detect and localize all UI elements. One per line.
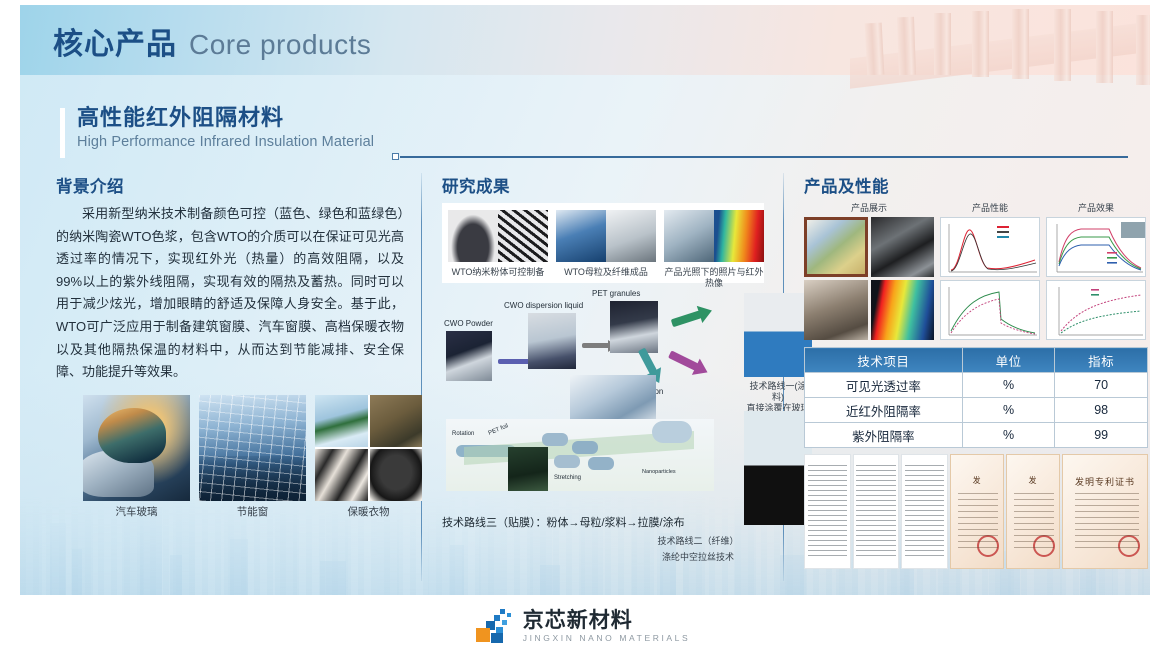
research-caption: 产品光照下的照片与红外热像 bbox=[664, 267, 764, 289]
research-photo-cell: 产品光照下的照片与红外热像 bbox=[664, 210, 764, 278]
patent-certificate-1: 发 bbox=[950, 454, 1004, 569]
product-subtitle-effect: 产品效果 bbox=[1046, 203, 1146, 214]
research-caption: WTO纳米粉体可控制备 bbox=[448, 267, 548, 278]
research-photo-cell: WTO纳米粉体可控制备 bbox=[448, 210, 548, 278]
energy-saving-window-photo bbox=[199, 395, 306, 501]
effect-chart-1-svg bbox=[1047, 218, 1146, 277]
product-effect-charts bbox=[1046, 217, 1146, 340]
wto-masterbatch-fiber-photo bbox=[556, 210, 656, 262]
certificate-row: 发 发 发明专利证书 bbox=[804, 454, 1148, 569]
spec-col-value: 指标 bbox=[1055, 348, 1148, 373]
table-row: 近红外阻隔率 % 98 bbox=[805, 398, 1148, 423]
product-subtitle-performance: 产品性能 bbox=[940, 203, 1040, 214]
research-title: 研究成果 bbox=[442, 173, 782, 197]
section-rule bbox=[392, 153, 1128, 161]
route-one-block: 技术路线一(涂料) 直接涂覆在玻璃表面 bbox=[744, 293, 812, 425]
route-two-caption-block: 技术路线二（纤维） 涤纶中空拉丝技术 bbox=[654, 531, 742, 563]
background-photo-row: 汽车玻璃 节能窗 保暖衣物 bbox=[83, 395, 422, 519]
photo-caption: 汽车玻璃 bbox=[83, 506, 190, 519]
test-report-cttc bbox=[804, 454, 851, 569]
section-title-cn: 高性能红外阻隔材料 bbox=[77, 104, 374, 132]
background-title: 背景介绍 bbox=[56, 173, 404, 197]
flow-label-pet-granules: PET granules bbox=[592, 289, 640, 298]
research-caption: WTO母粒及纤维成品 bbox=[556, 267, 656, 278]
spec-value: 70 bbox=[1055, 373, 1148, 398]
test-report-gtt bbox=[853, 454, 900, 569]
patent-title: 发 bbox=[951, 475, 1003, 486]
performance-chart-2-svg bbox=[941, 281, 1040, 340]
pet-granules-photo bbox=[610, 301, 658, 353]
product-subtitle-row: 产品展示 产品性能 产品效果 bbox=[804, 203, 1148, 214]
wto-nano-powder-photo bbox=[448, 210, 548, 262]
research-photo-cell: WTO母粒及纤维成品 bbox=[556, 210, 656, 278]
route-two-block bbox=[744, 411, 812, 525]
photo-caption: 保暖衣物 bbox=[315, 506, 422, 519]
test-report-third bbox=[901, 454, 948, 569]
product-thermal-device-photo bbox=[871, 280, 935, 340]
flow-label-nanoparticles: Nanoparticles bbox=[642, 469, 676, 475]
photo-caption: 节能窗 bbox=[199, 506, 306, 519]
header-title-cn: 核心产品 bbox=[53, 19, 177, 63]
patent-certificate-3: 发明专利证书 bbox=[1062, 454, 1148, 569]
section-title-block: 高性能红外阻隔材料 High Performance Infrared Insu… bbox=[60, 104, 374, 152]
background-paragraph: 采用新型纳米技术制备颜色可控（蓝色、绿色和蓝绿色）的纳米陶瓷WTO色浆，包含WT… bbox=[56, 203, 404, 384]
photo-cell: 保暖衣物 bbox=[315, 395, 422, 519]
product-title: 产品及性能 bbox=[804, 173, 1148, 197]
flow-arrow-purple bbox=[672, 350, 699, 363]
performance-chart-1 bbox=[940, 217, 1040, 277]
route-two-photo bbox=[744, 411, 812, 525]
content-columns: 背景介绍 采用新型纳米技术制备颜色可控（蓝色、绿色和蓝绿色）的纳米陶瓷WTO色浆… bbox=[56, 173, 1128, 589]
spec-item: 紫外阻隔率 bbox=[805, 423, 963, 448]
spec-unit: % bbox=[962, 398, 1055, 423]
column-product: 产品及性能 产品展示 产品性能 产品效果 bbox=[804, 173, 1148, 569]
product-sample-photo-3 bbox=[804, 280, 868, 340]
route-three-schematic: Rotation PET foil Stretching Nanoparticl… bbox=[446, 419, 714, 491]
cwo-powder-photo bbox=[446, 331, 492, 381]
route-one-photo bbox=[744, 293, 812, 377]
product-sample-photo-1 bbox=[804, 217, 868, 277]
spec-item: 近红外阻隔率 bbox=[805, 398, 963, 423]
route-one-caption-line1: 技术路线一(涂料) bbox=[744, 381, 812, 403]
colonnade-watermark bbox=[850, 5, 1150, 95]
section-accent-bar bbox=[60, 108, 65, 158]
product-media-row bbox=[804, 217, 1148, 340]
table-row: 紫外阻隔率 % 99 bbox=[805, 423, 1148, 448]
spec-col-item: 技术项目 bbox=[805, 348, 963, 373]
spec-table-header-row: 技术项目 单位 指标 bbox=[805, 348, 1148, 373]
footer-bar: 京芯新材料 JINGXIN NANO MATERIALS bbox=[0, 595, 1164, 657]
thermal-clothing-photo bbox=[315, 395, 422, 501]
flow-label-cwo-dispersion: CWO dispersion liquid bbox=[504, 301, 583, 310]
product-subtitle-display: 产品展示 bbox=[804, 203, 934, 214]
research-photo-strip: WTO纳米粉体可控制备 WTO母粒及纤维成品 产品光照下的照片与红外热像 bbox=[442, 203, 764, 283]
spec-value: 98 bbox=[1055, 398, 1148, 423]
flow-arrow-green bbox=[671, 310, 700, 319]
spec-unit: % bbox=[962, 373, 1055, 398]
table-row: 可见光透过率 % 70 bbox=[805, 373, 1148, 398]
route-two-caption-line1: 技术路线二（纤维） bbox=[654, 536, 742, 547]
brand-logo-icon bbox=[474, 609, 514, 643]
spec-col-unit: 单位 bbox=[962, 348, 1055, 373]
photo-cell: 汽车玻璃 bbox=[83, 395, 190, 519]
effect-chart-2-svg bbox=[1047, 281, 1146, 340]
spec-value: 99 bbox=[1055, 423, 1148, 448]
flow-label-cwo-powder: CWO Powder bbox=[444, 319, 493, 328]
effect-chart-1 bbox=[1046, 217, 1146, 277]
header-title: 核心产品 Core products bbox=[53, 19, 371, 63]
column-background: 背景介绍 采用新型纳米技术制备颜色可控（蓝色、绿色和蓝绿色）的纳米陶瓷WTO色浆… bbox=[56, 173, 404, 384]
brand-text: 京芯新材料 JINGXIN NANO MATERIALS bbox=[523, 610, 691, 643]
flow-label-rotation: Rotation bbox=[452, 431, 474, 437]
product-sample-photo-2 bbox=[871, 217, 935, 277]
process-flow-diagram: CWO Powder CWO dispersion liquid PET gra… bbox=[442, 291, 782, 509]
official-seal-icon bbox=[1033, 535, 1055, 557]
cwo-dispersion-photo bbox=[528, 313, 576, 369]
spec-item: 可见光透过率 bbox=[805, 373, 963, 398]
patent-title: 发明专利证书 bbox=[1063, 475, 1147, 488]
product-performance-charts bbox=[940, 217, 1040, 340]
brand-name-cn: 京芯新材料 bbox=[523, 610, 691, 631]
spec-table: 技术项目 单位 指标 可见光透过率 % 70 近红外阻隔率 bbox=[804, 347, 1148, 448]
film-sample-photo bbox=[508, 447, 548, 491]
flow-label-pet-foil: PET foil bbox=[488, 423, 510, 436]
product-display-grid bbox=[804, 217, 934, 340]
flow-label-stretching: Stretching bbox=[554, 475, 581, 481]
route-two-caption-line2: 涤纶中空拉丝技术 bbox=[654, 552, 742, 563]
section-title-en: High Performance Infrared Insulation Mat… bbox=[77, 132, 374, 152]
brand-name-en: JINGXIN NANO MATERIALS bbox=[523, 634, 691, 643]
column-research: 研究成果 WTO纳米粉体可控制备 WTO母粒及纤维成品 产品光照下的照片与红外热… bbox=[442, 173, 782, 530]
car-glass-photo bbox=[83, 395, 190, 501]
route-three-caption: 技术路线三（贴膜）：粉体→母粒/浆料→拉膜/涂布 bbox=[442, 517, 782, 530]
performance-chart-1-svg bbox=[941, 218, 1040, 277]
patent-title: 发 bbox=[1007, 475, 1059, 486]
infrared-thermal-photo bbox=[664, 210, 764, 262]
header-title-en: Core products bbox=[189, 29, 371, 61]
performance-chart-2 bbox=[940, 280, 1040, 340]
photo-cell: 节能窗 bbox=[199, 395, 306, 519]
column-divider-1 bbox=[421, 173, 422, 581]
header-band: 核心产品 Core products bbox=[20, 5, 1150, 75]
effect-chart-2 bbox=[1046, 280, 1146, 340]
slide-frame: 核心产品 Core products 高性能红外阻隔材料 High Perfor… bbox=[20, 5, 1150, 595]
patent-certificate-2: 发 bbox=[1006, 454, 1060, 569]
spec-unit: % bbox=[962, 423, 1055, 448]
slide-root: 核心产品 Core products 高性能红外阻隔材料 High Perfor… bbox=[0, 0, 1164, 657]
official-seal-icon bbox=[977, 535, 999, 557]
official-seal-icon bbox=[1118, 535, 1140, 557]
